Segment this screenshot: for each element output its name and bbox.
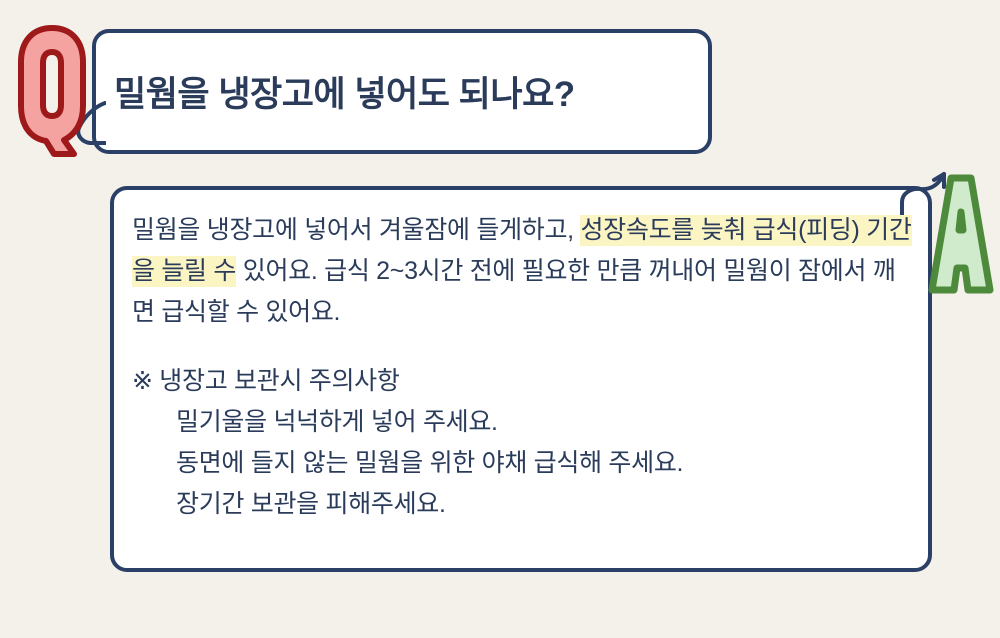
question-text: 밀웜을 냉장고에 넣어도 되나요? [114, 29, 700, 154]
notice-line: 밀기울을 넉넉하게 넣어 주세요. [132, 402, 914, 443]
answer-paragraph-seg1: 밀웜을 냉장고에 넣어서 겨울잠에 들게하고, [132, 216, 580, 244]
answer-notice: ※ 냉장고 보관시 주의사항 밀기울을 넉넉하게 넣어 주세요. 동면에 들지 … [132, 361, 914, 525]
notice-line: 동면에 들지 않는 밀웜을 위한 야채 급식해 주세요. [132, 443, 914, 484]
notice-heading: ※ 냉장고 보관시 주의사항 [132, 361, 914, 402]
question-bubble-tail [76, 101, 106, 147]
faq-card: 밀웜을 냉장고에 넣어도 되나요? 밀웜을 냉장고에 넣어서 겨울잠에 들게하고… [0, 0, 1000, 638]
answer-paragraph: 밀웜을 냉장고에 넣어서 겨울잠에 들게하고, 성장속도를 늦춰 급식(피딩) … [132, 210, 914, 333]
answer-bubble: 밀웜을 냉장고에 넣어서 겨울잠에 들게하고, 성장속도를 늦춰 급식(피딩) … [110, 186, 932, 572]
answer-paragraph-seg3: 있어요. 급식 2~3시간 전에 필요한 만큼 꺼내어 밀웜이 잠에서 깨면 급… [132, 257, 896, 326]
answer-body: 밀웜을 냉장고에 넣어서 겨울잠에 들게하고, 성장속도를 늦춰 급식(피딩) … [132, 210, 914, 558]
question-bubble: 밀웜을 냉장고에 넣어도 되나요? [92, 29, 712, 154]
letter-q-glyph [21, 28, 83, 154]
notice-line: 장기간 보관을 피해주세요. [132, 484, 914, 525]
